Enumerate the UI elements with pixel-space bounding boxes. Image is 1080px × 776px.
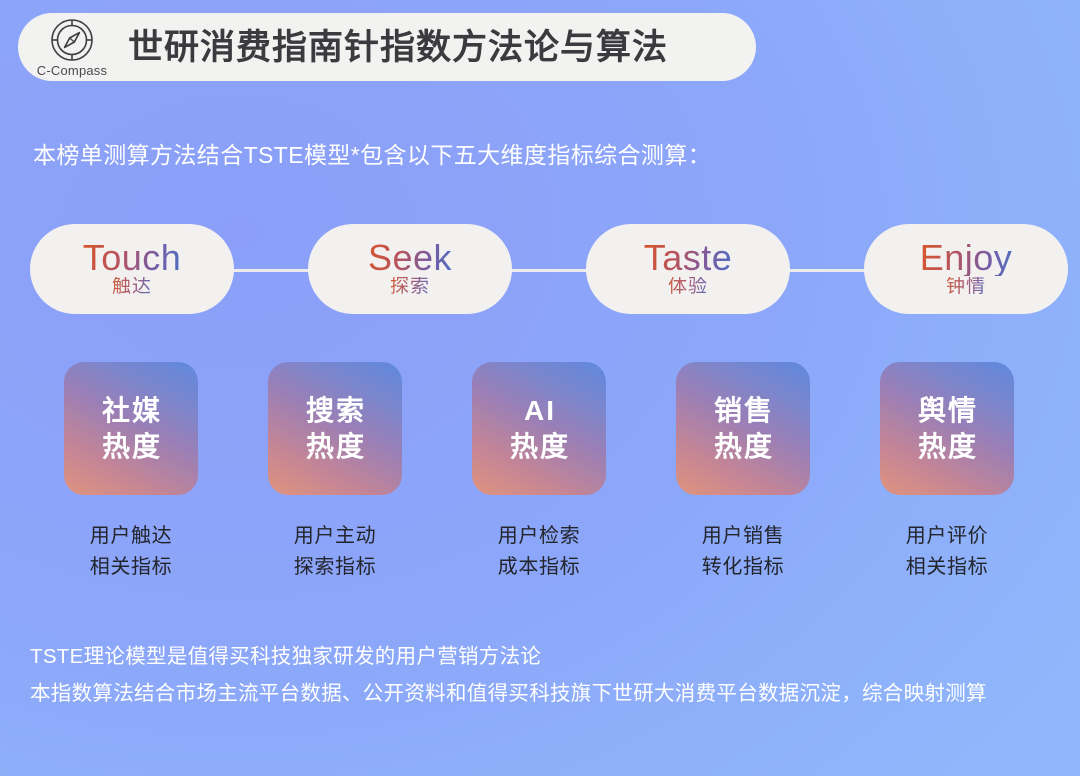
dimension-cards-row: 社媒 热度 搜索 热度 AI 热度 销售 热度 舆情 热度 — [0, 362, 1080, 497]
tste-connector-3 — [784, 269, 876, 272]
tste-step-cn-label: 探索 — [390, 277, 430, 298]
tste-step-touch[interactable]: Touch 触达 — [30, 224, 234, 314]
footer-notes: TSTE理论模型是值得买科技独家研发的用户营销方法论 本指数算法结合市场主流平台… — [30, 640, 1060, 710]
dimension-captions-row: 用户触达 相关指标 用户主动 探索指标 用户检索 成本指标 用户销售 转化指标 … — [0, 521, 1080, 591]
tste-connector-2 — [506, 269, 598, 272]
tste-step-cn-label: 体验 — [668, 277, 708, 298]
dimension-caption-line-1: 用户评价 — [857, 521, 1037, 552]
tste-model-row: Touch 触达 Seek 探索 Taste 体验 Enjoy 钟情 — [30, 224, 1050, 316]
page-title: 世研消费指南针指数方法论与算法 — [128, 30, 668, 65]
dimension-caption-line-2: 相关指标 — [857, 552, 1037, 583]
dimension-card-line-1: 搜索 — [304, 393, 366, 429]
tste-step-en-label: Touch — [83, 240, 182, 277]
dimension-caption-line-1: 用户检索 — [449, 521, 629, 552]
dimension-caption-line-1: 用户销售 — [653, 521, 833, 552]
dimension-caption-line-1: 用户触达 — [41, 521, 221, 552]
logo-caption: C-Compass — [37, 63, 107, 78]
dimension-card-sentiment[interactable]: 舆情 热度 — [880, 362, 1014, 495]
dimension-card-ai[interactable]: AI 热度 — [472, 362, 606, 495]
subtitle-text: 本榜单测算方法结合TSTE模型*包含以下五大维度指标综合测算： — [33, 136, 711, 170]
dimension-card-search[interactable]: 搜索 热度 — [268, 362, 402, 495]
dimension-caption-sentiment: 用户评价 相关指标 — [857, 521, 1037, 583]
tste-step-taste[interactable]: Taste 体验 — [586, 224, 790, 314]
dimension-card-line-1: AI — [522, 393, 556, 429]
tste-step-enjoy[interactable]: Enjoy 钟情 — [864, 224, 1068, 314]
dimension-caption-social: 用户触达 相关指标 — [41, 521, 221, 583]
tste-step-seek[interactable]: Seek 探索 — [308, 224, 512, 314]
dimension-caption-line-2: 成本指标 — [449, 552, 629, 583]
dimension-card-line-2: 热度 — [304, 429, 366, 465]
dimension-card-line-1: 社媒 — [100, 393, 162, 429]
header-bar: C-Compass 世研消费指南针指数方法论与算法 — [18, 13, 756, 81]
logo-block: C-Compass — [18, 13, 126, 81]
infographic-page: C-Compass 世研消费指南针指数方法论与算法 本榜单测算方法结合TSTE模… — [0, 0, 1080, 776]
footer-note-algorithm: 本指数算法结合市场主流平台数据、公开资料和值得买科技旗下世研大消费平台数据沉淀，… — [30, 677, 1060, 710]
dimension-caption-sales: 用户销售 转化指标 — [653, 521, 833, 583]
dimension-card-line-1: 舆情 — [916, 393, 978, 429]
tste-step-cn-label: 钟情 — [946, 277, 986, 298]
dimension-card-line-2: 热度 — [712, 429, 774, 465]
dimension-caption-line-2: 探索指标 — [245, 552, 425, 583]
dimension-card-line-1: 销售 — [712, 393, 774, 429]
dimension-card-line-2: 热度 — [508, 429, 570, 465]
dimension-card-sales[interactable]: 销售 热度 — [676, 362, 810, 495]
compass-icon — [50, 16, 94, 62]
footer-note-tste-model: TSTE理论模型是值得买科技独家研发的用户营销方法论 — [30, 640, 1060, 673]
tste-connector-1 — [228, 269, 320, 272]
dimension-caption-ai: 用户检索 成本指标 — [449, 521, 629, 583]
dimension-card-line-2: 热度 — [100, 429, 162, 465]
dimension-caption-search: 用户主动 探索指标 — [245, 521, 425, 583]
dimension-caption-line-2: 转化指标 — [653, 552, 833, 583]
dimension-card-social[interactable]: 社媒 热度 — [64, 362, 198, 495]
dimension-caption-line-2: 相关指标 — [41, 552, 221, 583]
tste-step-en-label: Enjoy — [920, 240, 1013, 277]
dimension-caption-line-1: 用户主动 — [245, 521, 425, 552]
tste-step-en-label: Taste — [644, 240, 733, 277]
tste-step-cn-label: 触达 — [112, 277, 152, 298]
dimension-card-line-2: 热度 — [916, 429, 978, 465]
tste-step-en-label: Seek — [368, 240, 452, 277]
